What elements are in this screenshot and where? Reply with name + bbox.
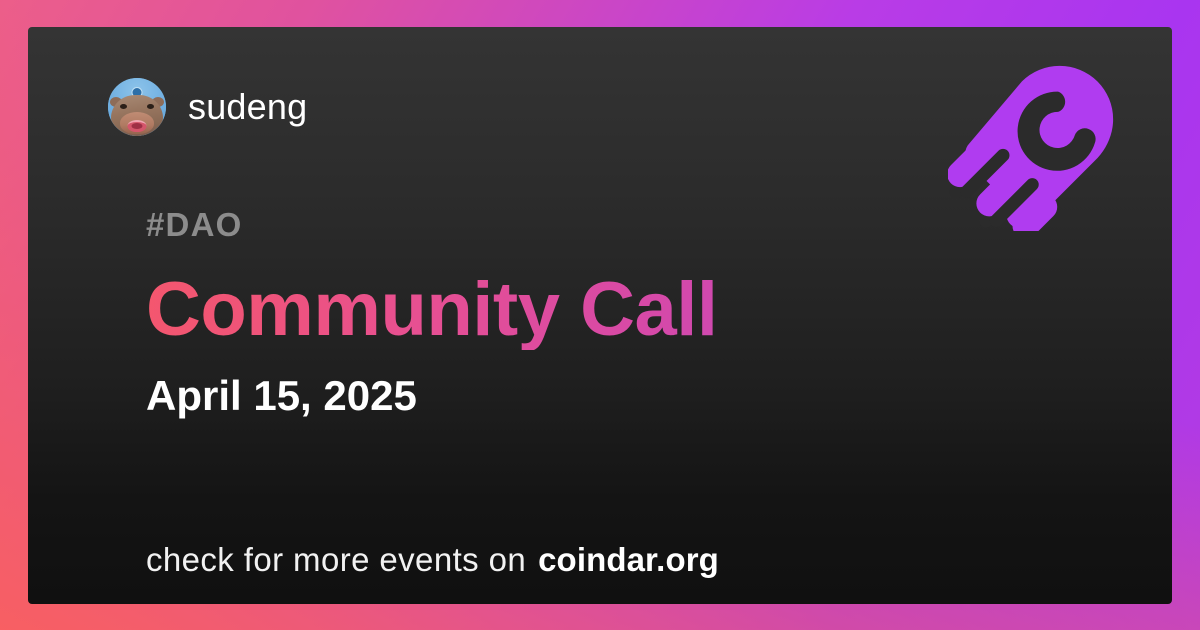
footer-text: check for more events on — [146, 543, 526, 576]
event-card-frame: sudeng #DAO Community Call April 15, 202… — [0, 0, 1200, 630]
avatar-eye-left — [120, 104, 127, 109]
avatar-eye-right — [147, 104, 154, 109]
account-name: sudeng — [188, 89, 307, 125]
account-row[interactable]: sudeng — [108, 78, 307, 136]
event-title: Community Call — [146, 270, 718, 350]
footer: check for more events on coindar.org — [146, 543, 719, 576]
event-date: April 15, 2025 — [146, 375, 417, 417]
avatar — [108, 78, 166, 136]
event-tag: #DAO — [146, 208, 243, 241]
avatar-mouth-inner — [132, 123, 143, 129]
footer-brand-link[interactable]: coindar.org — [538, 543, 719, 576]
event-card: sudeng #DAO Community Call April 15, 202… — [28, 27, 1172, 604]
coindar-logo-icon — [948, 59, 1120, 231]
